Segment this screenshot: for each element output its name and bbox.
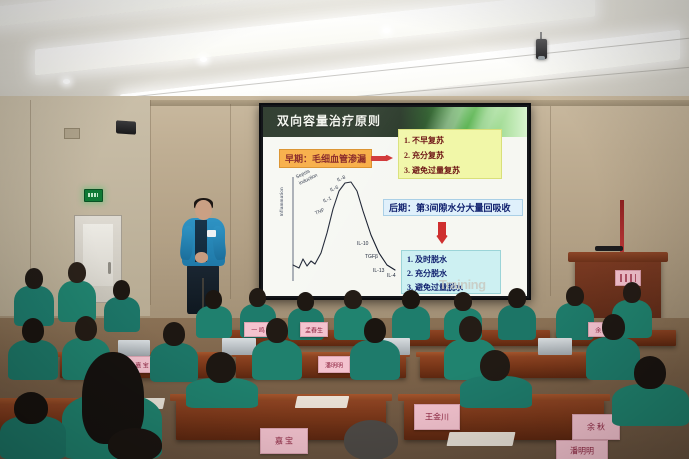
scrub-top [350,340,400,380]
door-handle [108,262,111,274]
late-phase-text: 后期：第3间隙水分大量回吸收 [389,201,511,214]
head [22,318,44,343]
head [297,292,314,311]
chart-annotation-il4: IL-4 [387,273,396,279]
projection-screen: 双向容量治疗原则 早期：毛细血管渗漏 1. 不早复苏 2. 充分复苏 3. 避免… [259,103,531,300]
inflammation-curve-chart: Inflammation Sepsisinduction IL-8 IL-6 I… [281,169,399,293]
audience-member [460,350,532,408]
head [113,280,130,300]
audience-member [0,392,66,459]
paper-sheet [447,432,516,446]
slide-watermark: Training [439,277,486,292]
audience-member [186,352,258,408]
early-action-3: 3. 避免过量复苏 [404,163,496,178]
chart-annotation-il10: IL-10 [357,241,368,247]
audience-member [330,420,412,459]
audience-member [498,288,536,340]
head [14,392,48,424]
slide-title: 双向容量治疗原则 [277,112,381,129]
audience-member [252,318,302,380]
audience-member [196,290,232,338]
early-actions-box: 1. 不早复苏 2. 充分复苏 3. 避免过量复苏 [398,129,502,179]
presenter-hands [195,252,208,263]
audience-member [612,356,689,426]
chart-svg [281,169,399,293]
lecture-hall-photo: 双向容量治疗原则 早期：毛细血管渗漏 1. 不早复苏 2. 充分复苏 3. 避免… [0,0,689,459]
arrow-right-icon [371,155,393,162]
head [364,318,386,343]
paper-sheet [295,396,350,408]
projector-lens [538,56,545,60]
audience-member [58,262,96,322]
presenter-head [195,200,212,220]
head [206,352,236,383]
namecard: 王金川 [414,404,460,430]
head [459,316,482,342]
namecard: 嘉 宝 [260,428,308,454]
scrub-top [8,340,58,380]
scrub-top [498,305,536,340]
wall-panel-line [150,100,151,305]
head [454,292,472,311]
laptop-screen[interactable] [538,338,572,355]
head-gray-hair [344,420,398,459]
podium-top [568,252,668,262]
exit-sign [84,189,103,202]
head [566,286,584,306]
head [402,290,420,309]
presenter-badge [207,230,216,237]
downlight [383,28,390,33]
head [25,268,43,289]
early-action-2: 2. 充分复苏 [404,148,496,163]
head [602,314,625,340]
wall-vent [64,128,80,139]
audience-member [350,318,400,380]
namecard: 孟春生 [300,322,328,337]
head [634,356,666,389]
wall-panel-line [550,106,551,296]
head [508,288,526,308]
late-action-1: 1. 及时脱水 [407,253,495,267]
head [623,282,641,303]
head [68,262,86,283]
namecard: 潘明明 [318,356,350,373]
downlight [63,79,70,84]
scrub-top [252,340,302,380]
head [108,428,162,459]
head [344,290,362,309]
namecard: 潘明明 [556,440,608,459]
late-phase-label: 后期：第3间隙水分大量回吸收 [383,199,523,216]
podium-microphone [595,246,623,251]
head [205,290,222,309]
slide-surface: 双向容量治疗原则 早期：毛细血管渗漏 1. 不早复苏 2. 充分复苏 3. 避免… [263,107,527,296]
scrub-top [612,384,689,426]
head [480,350,510,381]
head [266,318,288,343]
head [249,288,266,307]
early-action-1: 1. 不早复苏 [404,133,496,148]
audience-member [96,428,174,459]
early-phase-label: 早期：毛细血管渗漏 [279,149,372,168]
head [75,316,97,341]
head [163,322,185,346]
wall-panel-line [230,104,231,299]
arrow-down-icon [435,222,449,246]
audience-member [8,318,58,380]
chart-annotation-il13: IL-13 [373,268,384,274]
chart-annotation-tgfb: TGFβ [365,254,378,260]
scrub-top [196,306,232,338]
chart-y-axis-label: Inflammation [279,187,284,216]
wall-speaker [116,120,136,134]
downlight [200,57,207,62]
